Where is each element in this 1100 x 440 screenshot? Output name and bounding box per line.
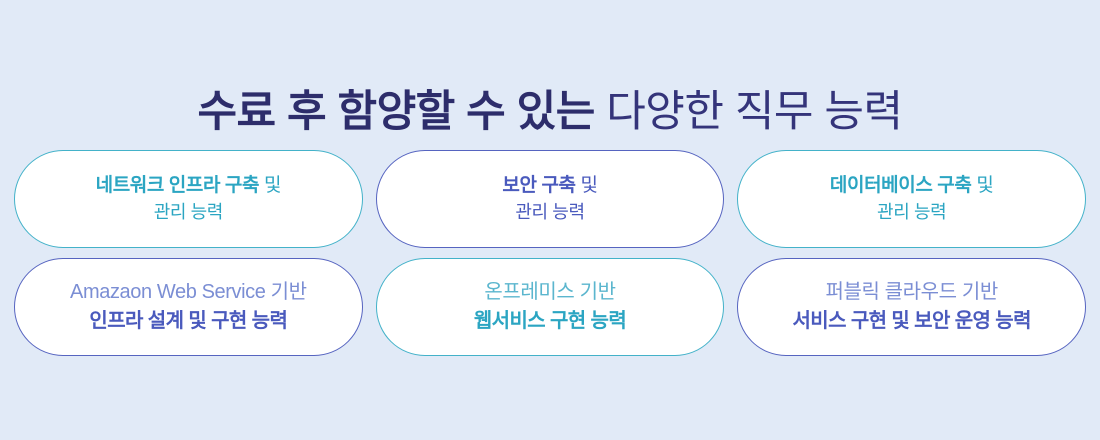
skill-card-network[interactable]: 네트워크 인프라 구축 및 관리 능력 — [14, 150, 363, 248]
skill-card-database[interactable]: 데이터베이스 구축 및 관리 능력 — [737, 150, 1086, 248]
skill-card-onpremise[interactable]: 온프레미스 기반 웹서비스 구현 능력 — [376, 258, 725, 356]
skill-card-aws-line2: 인프라 설계 및 구현 능력 — [89, 309, 287, 335]
skill-card-public-cloud[interactable]: 퍼블릭 클라우드 기반 서비스 구현 및 보안 운영 능력 — [737, 258, 1086, 356]
skill-card-aws[interactable]: Amazaon Web Service 기반 인프라 설계 및 구현 능력 — [14, 258, 363, 356]
skill-card-public-cloud-line1: 퍼블릭 클라우드 기반 — [826, 280, 998, 306]
skill-card-database-line1: 데이터베이스 구축 및 — [830, 174, 994, 198]
skill-card-row-2: Amazaon Web Service 기반 인프라 설계 및 구현 능력 온프… — [14, 258, 1086, 356]
skill-card-security[interactable]: 보안 구축 및 관리 능력 — [376, 150, 725, 248]
skill-card-security-line2: 관리 능력 — [515, 201, 584, 224]
skill-card-row-1: 네트워크 인프라 구축 및 관리 능력 보안 구축 및 관리 능력 데이터베이스… — [14, 150, 1086, 248]
skill-card-aws-line1: Amazaon Web Service 기반 — [70, 280, 307, 306]
skill-card-security-line1: 보안 구축 및 — [502, 174, 597, 198]
page-title-remainder: 다양한 직무 능력 — [595, 88, 903, 136]
skill-card-network-line1-normal: 및 — [259, 175, 281, 196]
skill-card-onpremise-line1: 온프레미스 기반 — [484, 280, 615, 306]
skill-card-network-line2: 관리 능력 — [154, 201, 223, 224]
skill-card-database-line2: 관리 능력 — [877, 201, 946, 224]
skill-card-database-line1-bold: 데이터베이스 구축 — [830, 175, 972, 196]
skill-card-grid: 네트워크 인프라 구축 및 관리 능력 보안 구축 및 관리 능력 데이터베이스… — [14, 150, 1086, 356]
skill-card-onpremise-line2: 웹서비스 구현 능력 — [474, 309, 626, 335]
skill-card-network-line1: 네트워크 인프라 구축 및 — [96, 174, 281, 198]
skill-card-network-line1-bold: 네트워크 인프라 구축 — [96, 175, 259, 196]
promo-banner: 수료 후 함양할 수 있는 다양한 직무 능력 네트워크 인프라 구축 및 관리… — [0, 0, 1100, 440]
skill-card-database-line1-normal: 및 — [971, 175, 993, 196]
page-title: 수료 후 함양할 수 있는 다양한 직무 능력 — [0, 91, 1100, 134]
skill-card-public-cloud-line2: 서비스 구현 및 보안 운영 능력 — [792, 309, 1030, 335]
skill-card-security-line1-bold: 보안 구축 — [502, 175, 575, 196]
page-title-emphasis: 수료 후 함양할 수 있는 — [197, 88, 594, 136]
skill-card-security-line1-normal: 및 — [576, 175, 598, 196]
